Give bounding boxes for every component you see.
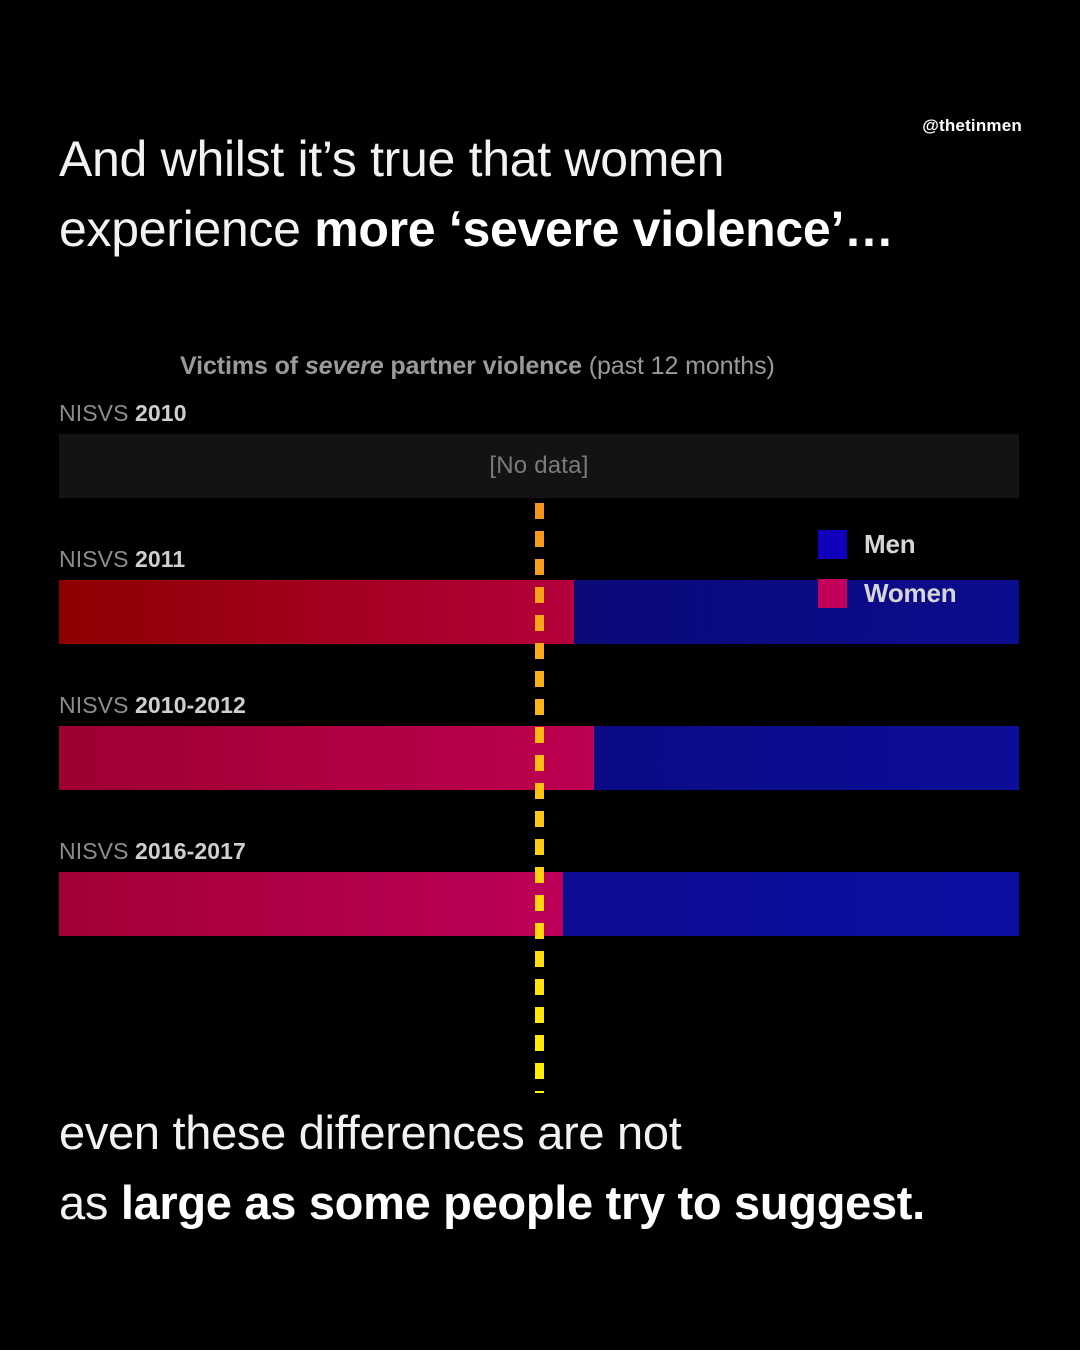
legend-label-men: Men	[864, 529, 915, 560]
row-label-nisvs-2010-2012: NISVS 2010-2012	[59, 692, 246, 719]
legend-item-women: Women	[818, 569, 1028, 618]
midpoint-reference-line	[535, 503, 544, 1093]
row-label-year: 2010	[135, 400, 187, 426]
legend-swatch-women	[818, 579, 847, 608]
legend-label-women: Women	[864, 578, 956, 609]
chart-title-part-3: partner violence	[384, 352, 582, 380]
infographic-canvas: @thetinmen And whilst it’s true that wom…	[0, 0, 1080, 1350]
row-label-nisvs-2016-2017: NISVS 2016-2017	[59, 838, 246, 865]
footer-line-2-bold: large as some people try to suggest.	[121, 1176, 925, 1229]
bar-segment-men-2016-2017	[563, 872, 1019, 936]
no-data-label: [No data]	[59, 434, 1019, 498]
chart-title-timeframe: (past 12 months)	[582, 352, 775, 380]
footer-line-1: even these differences are not	[59, 1106, 681, 1159]
row-label-nisvs-2011: NISVS 2011	[59, 546, 185, 573]
legend-item-men: Men	[818, 520, 1028, 569]
headline-line-1: And whilst it’s true that women	[59, 131, 724, 187]
chart-title-emphasis: severe	[305, 352, 384, 380]
footer-text: even these differences are not as large …	[59, 1098, 1019, 1238]
legend-swatch-men	[818, 530, 847, 559]
row-label-prefix: NISVS	[59, 546, 135, 572]
bar-segment-women-2016-2017	[59, 872, 563, 936]
chart-title-part-1: Victims of	[180, 352, 305, 380]
row-label-nisvs-2010: NISVS 2010	[59, 400, 187, 427]
chart-region: Victims of severe partner violence (past…	[0, 330, 1080, 1040]
row-label-prefix: NISVS	[59, 400, 135, 426]
chart-title: Victims of severe partner violence (past…	[180, 352, 775, 381]
bar-segment-women-2011	[59, 580, 574, 644]
headline-line-2-regular: experience	[59, 201, 314, 257]
headline-line-2-bold: more ‘severe violence’…	[314, 201, 894, 257]
bar-segment-women-2010-2012	[59, 726, 594, 790]
row-label-prefix: NISVS	[59, 692, 135, 718]
chart-plot-area: NISVS 2010 [No data] NISVS 2011 NISVS 20…	[0, 400, 1080, 1040]
footer-line-2-regular: as	[59, 1176, 121, 1229]
row-label-year: 2016-2017	[135, 838, 246, 864]
chart-legend: Men Women	[818, 520, 1028, 618]
row-label-year: 2011	[135, 546, 185, 572]
row-label-year: 2010-2012	[135, 692, 246, 718]
row-label-prefix: NISVS	[59, 838, 135, 864]
headline-text: And whilst it’s true that women experien…	[59, 124, 999, 264]
bar-segment-men-2010-2012	[594, 726, 1019, 790]
